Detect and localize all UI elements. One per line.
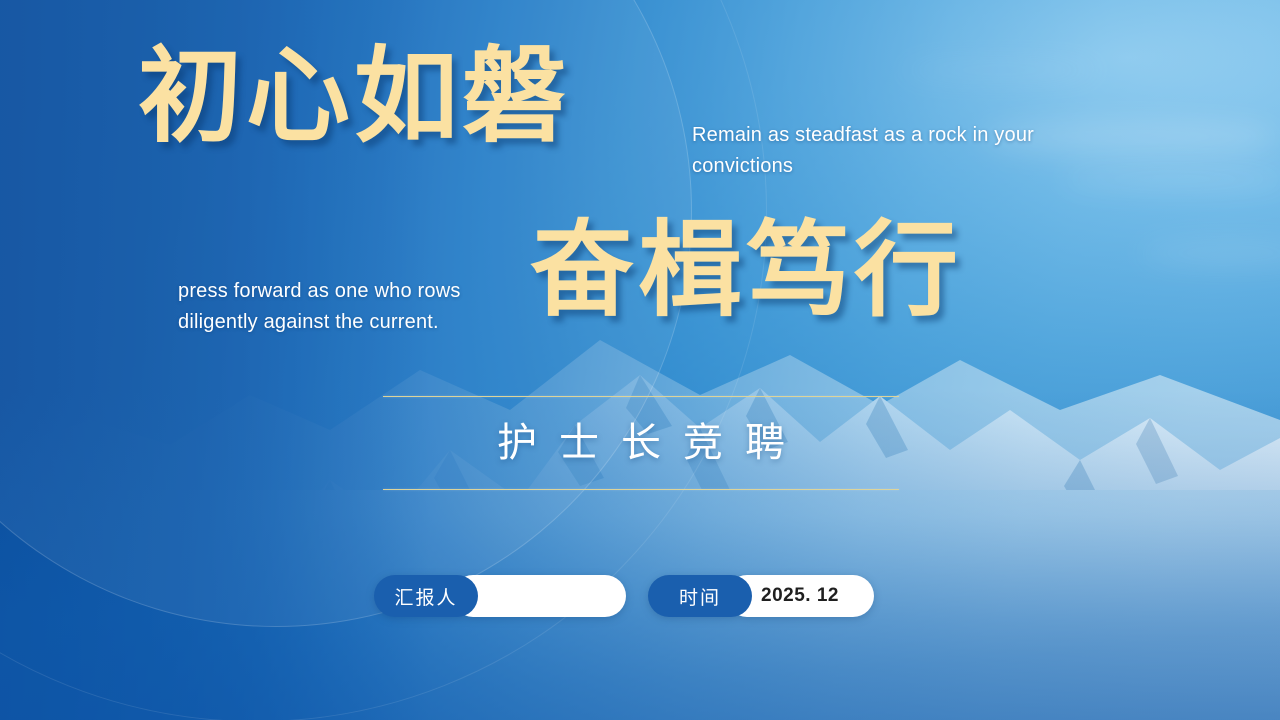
- english-subtitle-top: Remain as steadfast as a rock in your co…: [692, 120, 1062, 182]
- presentation-slide: 初心如磐 Remain as steadfast as a rock in yo…: [0, 0, 1280, 720]
- subtitle-text: 护士长竞聘: [383, 397, 899, 489]
- slide-content: 初心如磐 Remain as steadfast as a rock in yo…: [0, 0, 1280, 720]
- english-subtitle-bottom: press forward as one who rows diligently…: [178, 276, 526, 338]
- subtitle-rule-bottom: [383, 489, 899, 490]
- time-label: 时间: [648, 575, 752, 617]
- footer-badges: 汇报人 时间 2025. 12: [374, 575, 874, 617]
- main-title-line-1: 初心如磐: [138, 44, 570, 148]
- presenter-label: 汇报人: [374, 575, 478, 617]
- presenter-badge[interactable]: 汇报人: [374, 575, 626, 617]
- time-badge[interactable]: 时间 2025. 12: [648, 575, 874, 617]
- presenter-value[interactable]: [452, 575, 626, 617]
- main-title-line-2: 奋楫笃行: [530, 218, 962, 322]
- subtitle-block: 护士长竞聘: [383, 396, 899, 490]
